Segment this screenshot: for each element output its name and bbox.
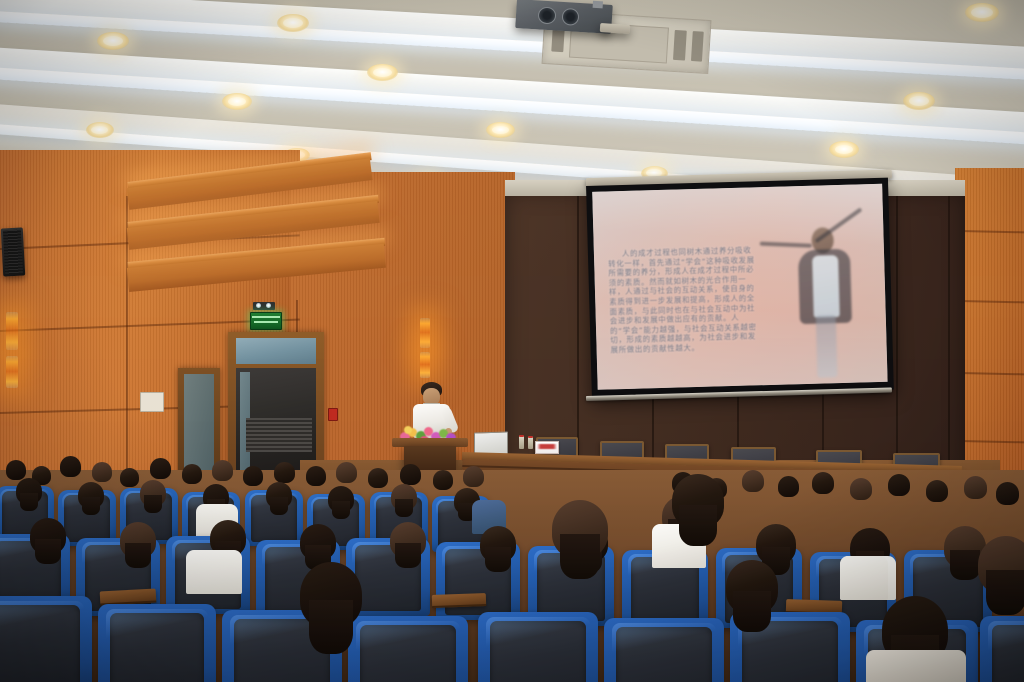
attendee-head: [756, 524, 796, 564]
auditorium-seat[interactable]: [98, 604, 216, 682]
emergency-light-icon: [253, 302, 275, 310]
wall-speaker-icon: [1, 227, 25, 276]
attendee-head: [140, 480, 166, 506]
attendee-head: [778, 476, 799, 497]
wall-sconce-lower: [6, 356, 18, 388]
secondary-door-leaf[interactable]: [184, 374, 214, 474]
attendee-head: [672, 474, 724, 528]
attendee-head: [850, 478, 872, 500]
attendee-head: [78, 482, 104, 508]
attendee-head: [243, 466, 263, 486]
attendee-head: [212, 460, 233, 481]
recessed-downlight: [486, 122, 515, 138]
auditorium-seat[interactable]: [604, 618, 724, 682]
wood-wall-right: [955, 168, 1024, 478]
writing-tablet[interactable]: [432, 593, 486, 608]
auditorium-seat[interactable]: [478, 612, 598, 682]
wall-sconce-right-lower: [420, 352, 430, 378]
attendee-head: [120, 522, 156, 558]
bottle-icon: [528, 436, 533, 449]
exit-sign-icon: [250, 312, 282, 330]
attendee-head: [996, 482, 1019, 505]
slide-figure-woman: [771, 204, 886, 382]
attendee-head: [433, 470, 453, 490]
door-transom-glass: [236, 338, 316, 364]
attendee-head: [888, 474, 910, 496]
recessed-downlight: [965, 3, 999, 22]
attendee-head: [182, 464, 202, 484]
auditorium-seat[interactable]: [348, 616, 468, 682]
attendee-head: [30, 518, 66, 554]
attendee-head: [300, 524, 336, 560]
fire-alarm-icon[interactable]: [328, 408, 338, 421]
writing-tablet[interactable]: [100, 589, 157, 606]
attendee-head: [480, 526, 516, 562]
attendee-head: [306, 466, 326, 486]
attendee-head: [742, 470, 764, 492]
projection-screen: 人的成才过程也同树木通过养分吸收转化一样，首先通过“学会”这种吸收发展所需要的养…: [592, 184, 887, 390]
recessed-downlight: [86, 122, 114, 138]
recessed-downlight: [829, 141, 859, 158]
attendee-head: [812, 472, 834, 494]
attendee-head: [328, 486, 354, 512]
attendee-torso: [840, 556, 888, 600]
recessed-downlight: [277, 14, 309, 32]
attendee-head: [463, 466, 484, 487]
attendee-torso: [866, 650, 966, 682]
recessed-downlight: [222, 93, 252, 110]
attendee-head: [964, 476, 987, 499]
lecture-hall-photo: 人的成才过程也同树木通过养分吸收转化一样，首先通过“学会”这种吸收发展所需要的养…: [0, 0, 1024, 682]
attendee-head: [368, 468, 388, 488]
projector-lens: [538, 6, 557, 24]
recessed-downlight: [97, 32, 129, 50]
attendee-head: [6, 460, 26, 480]
name-card: [535, 441, 559, 454]
attendee-head: [92, 462, 112, 482]
attendee-head: [391, 484, 417, 510]
attendee-head: [926, 480, 948, 502]
wall-sconce-right: [420, 318, 430, 348]
auditorium-seat[interactable]: [0, 596, 92, 682]
bottle-icon: [519, 435, 524, 449]
attendee-head: [120, 468, 139, 487]
attendee-head: [300, 562, 362, 628]
recessed-downlight: [367, 64, 398, 81]
attendee-head: [552, 500, 608, 558]
slide-body-text: 人的成才过程也同树木通过养分吸收转化一样，首先通过“学会”这种吸收发展所需要的养…: [608, 245, 761, 355]
attendee-head: [978, 536, 1024, 594]
wall-sconce-upper: [6, 312, 18, 350]
attendee-torso: [186, 550, 242, 594]
attendee-head: [726, 560, 778, 614]
recessed-downlight: [903, 92, 935, 110]
attendee-head: [400, 464, 421, 485]
attendee-head: [336, 462, 357, 483]
attendee-head: [16, 478, 42, 504]
wall-notice-plate: [140, 392, 164, 412]
screen-border: 人的成才过程也同树木通过养分吸收转化一样，首先通过“学会”这种吸收发展所需要的养…: [586, 178, 894, 398]
attendee-head: [266, 482, 292, 508]
ceiling-projector: [515, 0, 613, 34]
attendee-head: [60, 456, 81, 477]
attendee-head: [150, 458, 171, 479]
attendee-head: [390, 522, 426, 558]
attendee-head: [274, 462, 295, 483]
auditorium-seat[interactable]: [980, 616, 1024, 682]
